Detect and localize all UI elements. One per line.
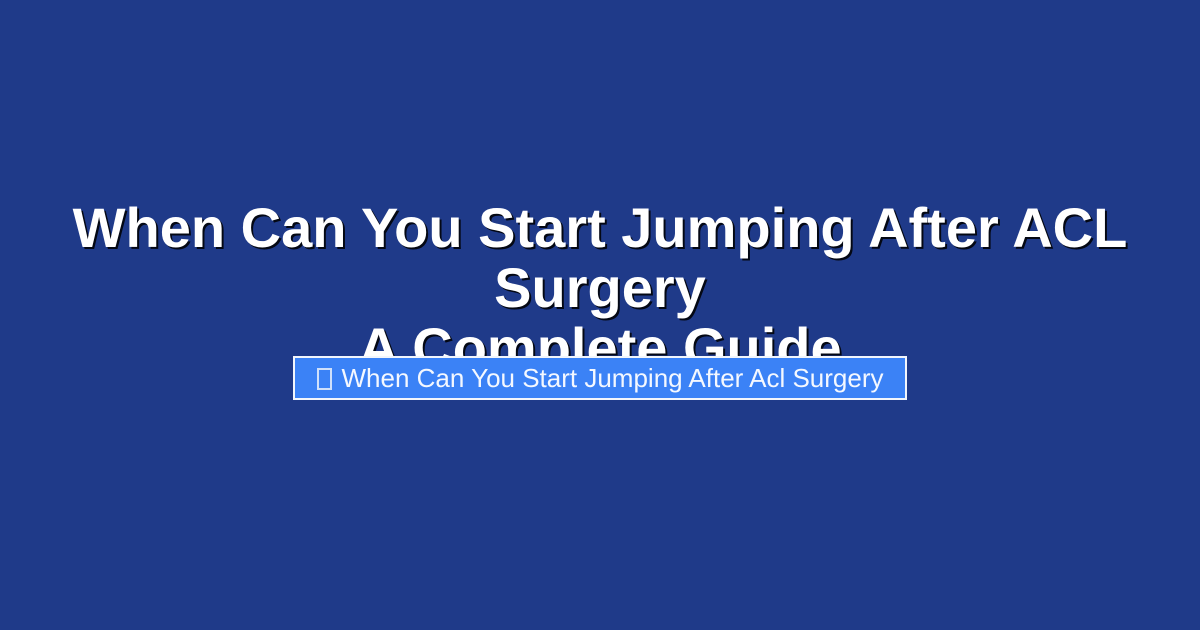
og-social-card: When Can You Start Jumping After ACL Sur… (0, 0, 1200, 630)
page-title: When Can You Start Jumping After ACL Sur… (60, 198, 1140, 378)
keyword-badge-label: When Can You Start Jumping After Acl Sur… (342, 358, 884, 398)
badge-row: When Can You Start Jumping After Acl Sur… (0, 356, 1200, 400)
tofu-missing-glyph-icon (317, 368, 332, 390)
keyword-badge[interactable]: When Can You Start Jumping After Acl Sur… (293, 356, 908, 400)
